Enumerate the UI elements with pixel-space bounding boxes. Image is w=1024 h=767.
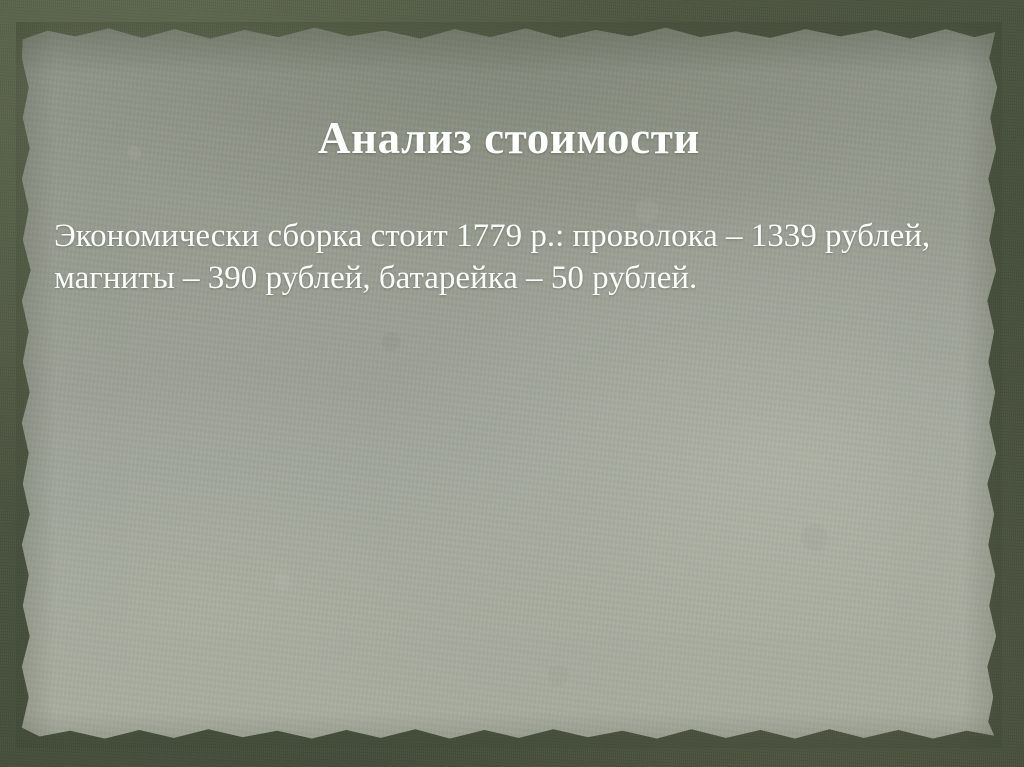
page-title: Анализ стоимости [16,114,1002,164]
slide-body-text: Экономически сборка стоит 1779 р.: прово… [54,215,954,299]
presentation-slide: Анализ стоимости Экономически сборка сто… [0,0,1024,767]
paper-sheet: Анализ стоимости Экономически сборка сто… [16,22,1002,748]
slide-content: Анализ стоимости Экономически сборка сто… [16,22,1002,748]
